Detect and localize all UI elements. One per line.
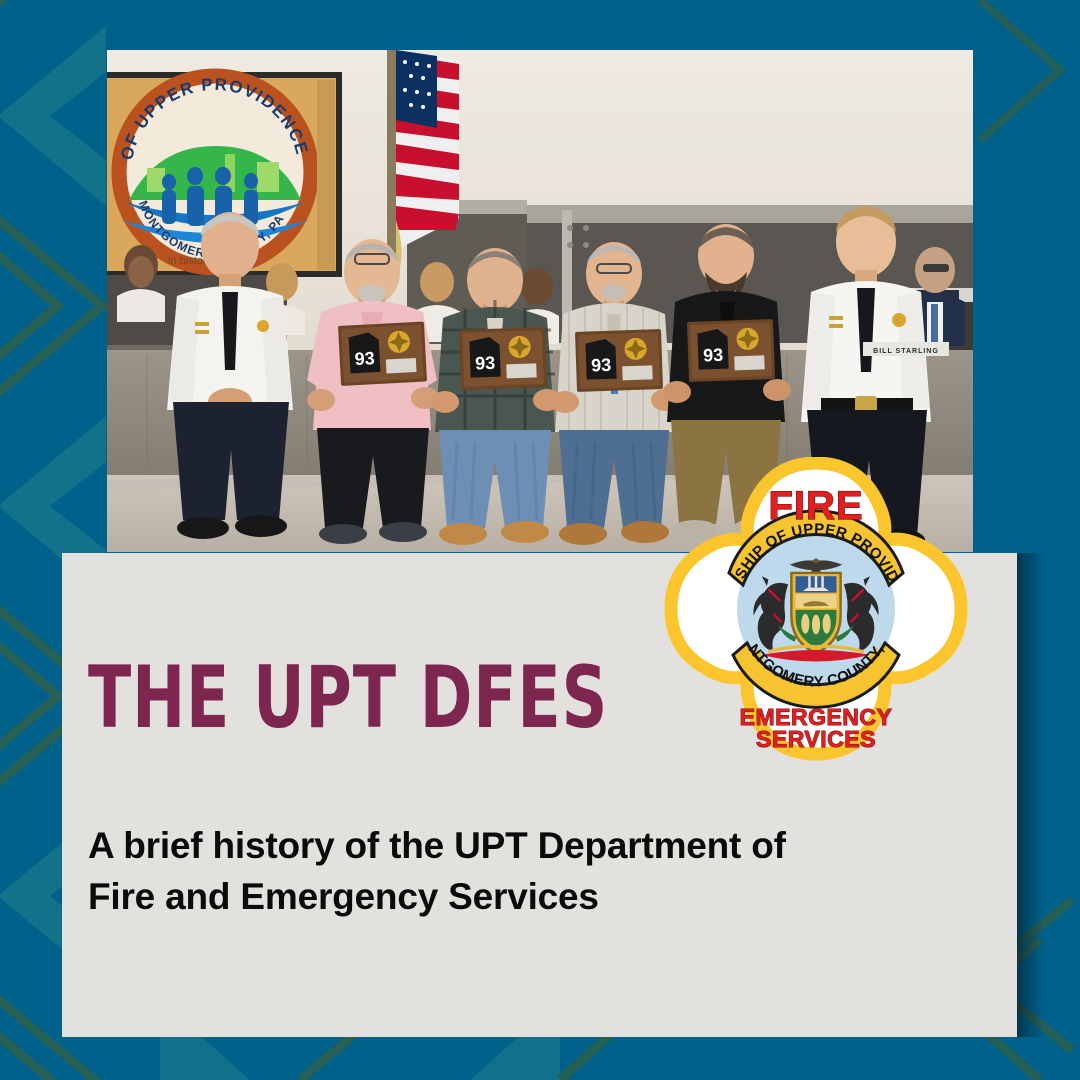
page-subtitle: A brief history of the UPT Department of… xyxy=(88,820,848,922)
badge-services-text: SERVICES xyxy=(756,726,876,752)
svg-text:93: 93 xyxy=(703,345,724,366)
slide-canvas: OF UPPER PROVIDENCE MONTGOMERY COUNTY, P… xyxy=(0,0,1080,1080)
upt-dfes-badge-logo: TOWNSHIP OF UPPER PROVIDENCE MONTGOMERY … xyxy=(651,457,981,787)
svg-text:BILL STARLING: BILL STARLING xyxy=(873,348,939,355)
badge-fire-text: FIRE xyxy=(768,484,863,528)
svg-text:93: 93 xyxy=(591,355,612,376)
svg-text:93: 93 xyxy=(354,348,375,369)
svg-text:93: 93 xyxy=(475,353,496,374)
card-drop-shadow xyxy=(1017,553,1044,1037)
page-title: THE UPT DFES xyxy=(88,655,608,741)
